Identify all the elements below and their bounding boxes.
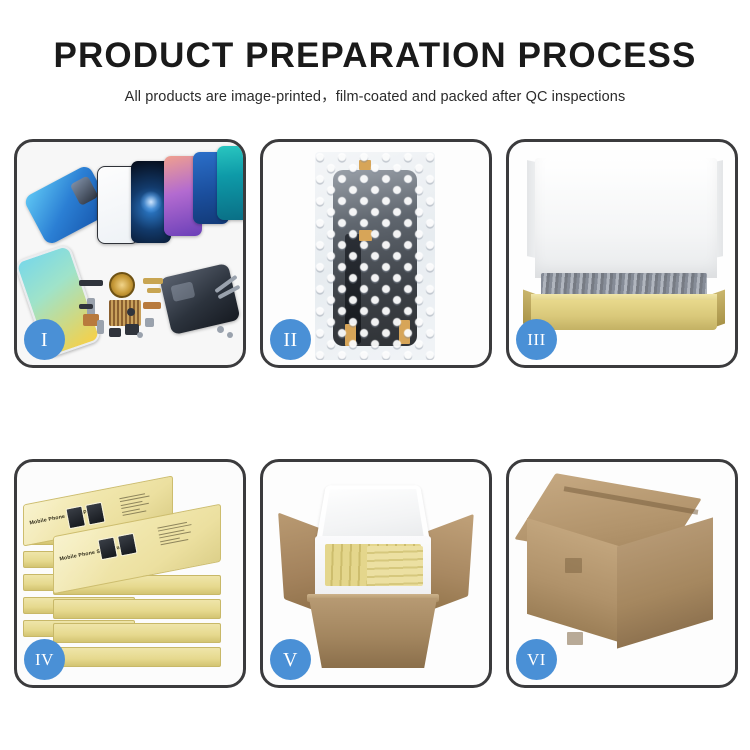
page-title: PRODUCT PREPARATION PROCESS [0, 38, 750, 75]
spare-part [79, 280, 103, 286]
spare-part [145, 318, 154, 327]
step-panel-4: Mobile Phone Spare Parts Mobile Phone Sp… [14, 459, 246, 688]
bubble-wrap-bag [315, 152, 435, 360]
spare-part [127, 308, 135, 316]
spare-part [147, 288, 161, 293]
bubble-texture [315, 152, 435, 360]
connector-grid-part [109, 300, 141, 326]
spare-part [137, 332, 143, 338]
phone-back-housing [159, 263, 240, 335]
step-panel-5: V [260, 459, 492, 688]
step-badge-4: IV [24, 639, 65, 680]
retail-box [53, 647, 221, 667]
box-lid-back [535, 158, 717, 278]
spare-part [79, 304, 93, 309]
retail-box [53, 599, 221, 619]
step-panel-1: I [14, 139, 246, 368]
step-panel-3: III [506, 139, 738, 368]
spare-part [143, 278, 163, 284]
step-panel-6: VI [506, 459, 738, 688]
step-badge-3: III [516, 319, 557, 360]
carton-tape-tab [565, 558, 582, 573]
spare-part [97, 320, 104, 334]
tray-front-kraft [531, 300, 717, 330]
step-badge-1: I [24, 319, 65, 360]
header: PRODUCT PREPARATION PROCESS All products… [0, 38, 750, 106]
step-panel-2: II [260, 139, 492, 368]
product-preparation-infographic: PRODUCT PREPARATION PROCESS All products… [0, 0, 750, 750]
spare-part [143, 302, 161, 309]
retail-boxes-inside [367, 546, 423, 586]
speaker-coil-part [109, 272, 135, 298]
carton-body [309, 598, 437, 668]
screw-part [227, 332, 233, 338]
step-badge-2: II [270, 319, 311, 360]
spare-part [109, 328, 121, 337]
screw-part [217, 326, 224, 333]
retail-box [53, 623, 221, 643]
phone-display-teal [217, 146, 243, 220]
page-subtitle: All products are image-printed，film-coat… [0, 85, 750, 106]
process-step-grid: I II [14, 139, 738, 688]
step-badge-6: VI [516, 639, 557, 680]
carton-tape-tab [567, 632, 583, 645]
step-badge-5: V [270, 639, 311, 680]
